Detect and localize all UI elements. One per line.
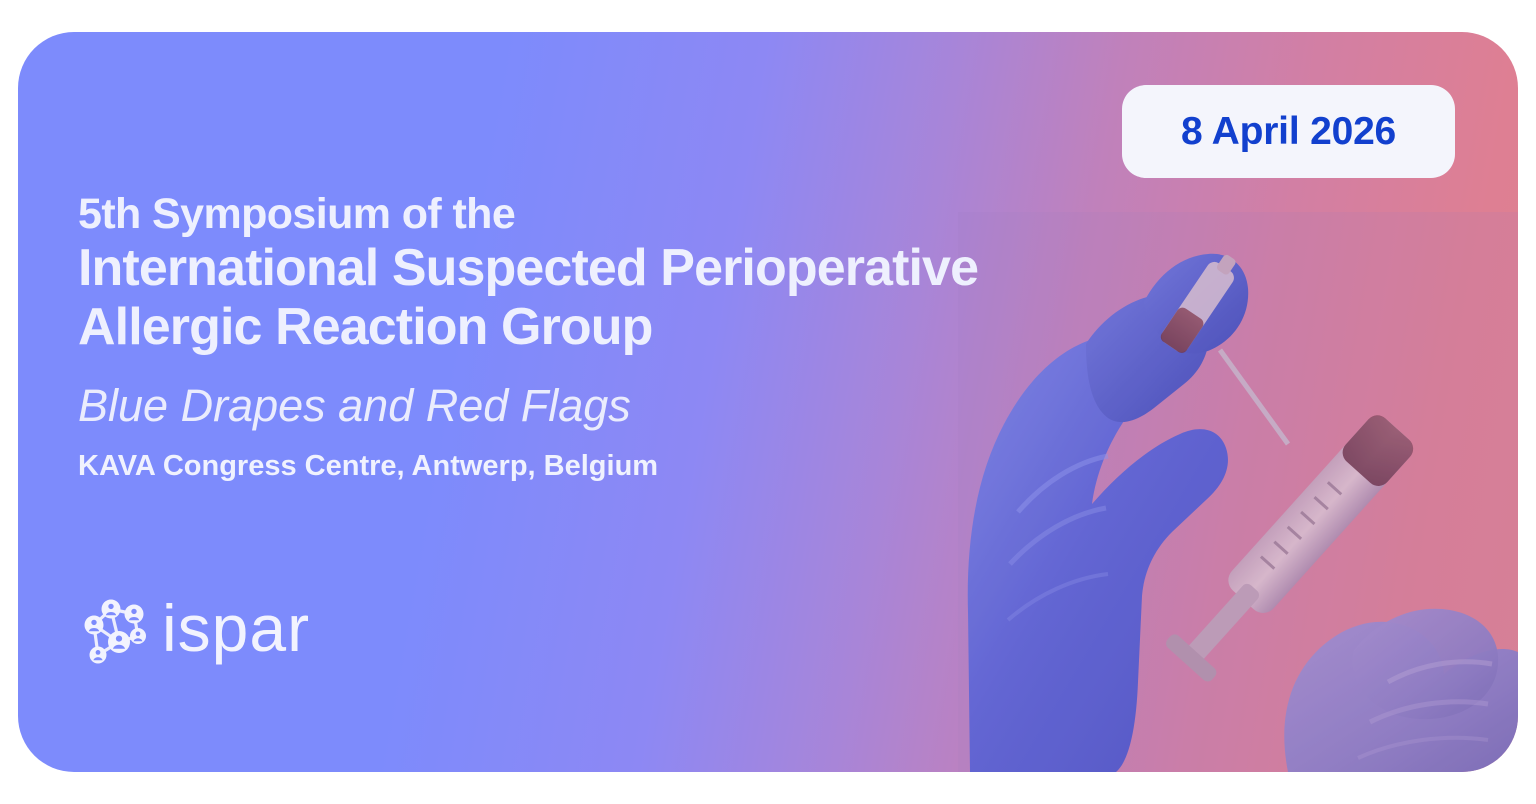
- event-title-line-3: Allergic Reaction Group: [78, 298, 978, 357]
- ispar-logo: ispar: [78, 594, 310, 666]
- event-banner-card: 8 April 2026 5th Symposium of the Intern…: [18, 32, 1518, 772]
- gloved-hands-syringe-photo: [958, 212, 1518, 772]
- event-date-badge: 8 April 2026: [1122, 85, 1455, 178]
- event-venue: KAVA Congress Centre, Antwerp, Belgium: [78, 449, 978, 484]
- ispar-wordmark: ispar: [162, 595, 310, 661]
- event-title-line-2: International Suspected Perioperative: [78, 239, 978, 298]
- page-title: International Suspected Perioperative Al…: [78, 239, 978, 358]
- event-date-text: 8 April 2026: [1181, 110, 1396, 154]
- event-subtitle: Blue Drapes and Red Flags: [78, 381, 978, 431]
- event-title-line-1: 5th Symposium of the: [78, 192, 978, 237]
- network-nodes-icon: [78, 594, 152, 666]
- banner-text-content: 5th Symposium of the International Suspe…: [78, 192, 978, 484]
